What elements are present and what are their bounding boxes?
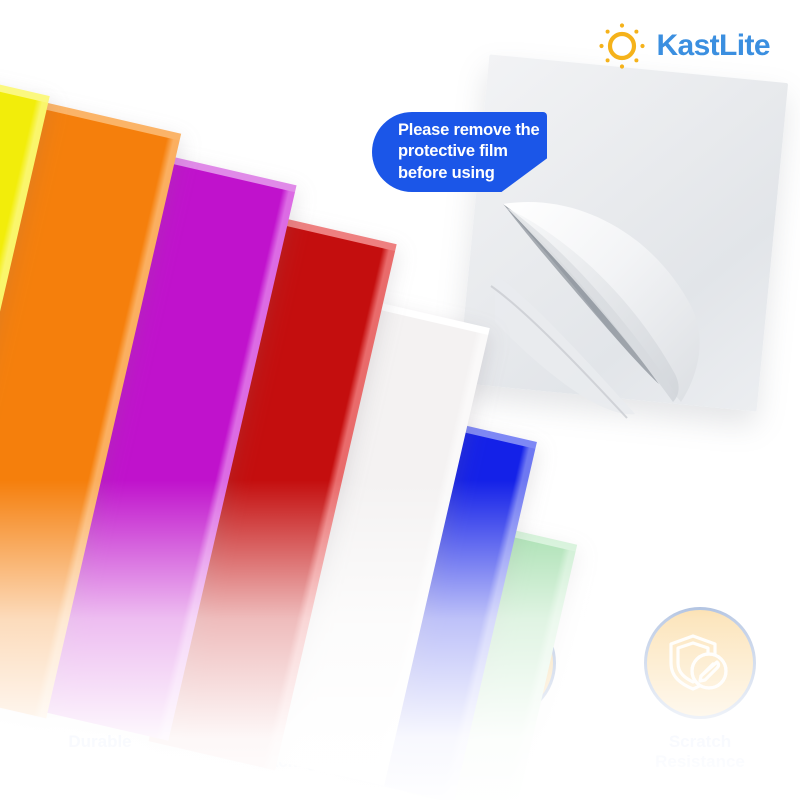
feature-label: Scratch Resistance — [655, 732, 745, 772]
shield-knife-icon — [665, 628, 735, 698]
badge-circle — [644, 607, 756, 719]
feature-scratch-resistance: Scratch Resistance — [609, 607, 791, 772]
feature-label: Durable — [68, 732, 131, 752]
brand-name: KastLite — [656, 29, 770, 63]
sun-icon — [596, 20, 648, 72]
peeling-protective-film-icon — [485, 178, 730, 428]
callout-text: Please remove the protective film before… — [398, 120, 540, 184]
brand-logo: KastLite — [596, 20, 770, 72]
product-marketing-image: Please remove the protective film before… — [0, 0, 800, 800]
